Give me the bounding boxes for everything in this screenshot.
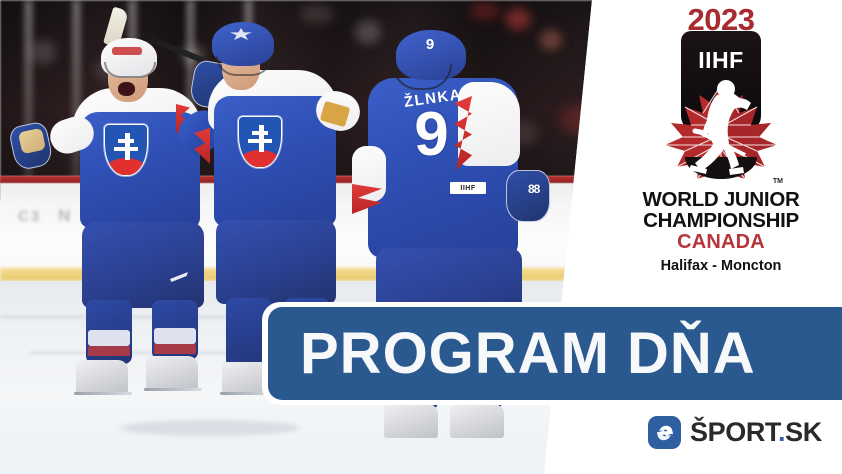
ice-scuff <box>120 420 300 436</box>
skate-blade <box>74 392 132 395</box>
hockey-player-silhouette-icon <box>681 77 767 181</box>
iihf-wordmark: IIHF <box>681 47 761 74</box>
jersey-number: 9 <box>392 104 472 166</box>
logo-title-line2: CHAMPIONSHIP <box>643 210 799 231</box>
skate <box>450 404 504 438</box>
slovakia-crest <box>238 116 282 168</box>
skate <box>384 404 438 438</box>
logo-title-line1: WORLD JUNIOR <box>643 189 800 210</box>
crowd-blob <box>505 8 531 30</box>
brand-tld: SK <box>785 417 822 447</box>
swirl-icon <box>653 421 677 445</box>
glass-reflection <box>24 0 33 200</box>
crowd-blob <box>300 4 334 24</box>
banner-title: PROGRAM DŇA <box>300 320 756 387</box>
promo-graphic: C3 N IHU I I <box>0 0 842 474</box>
sport-sk-mark-icon <box>648 416 681 449</box>
crest-hills <box>105 158 147 175</box>
crest-cross <box>118 139 135 143</box>
crest-cross <box>114 147 138 151</box>
skate <box>76 360 128 394</box>
program-banner: PROGRAM DŇA <box>268 307 842 400</box>
crest-hills <box>239 150 281 167</box>
skate-blade <box>144 388 202 391</box>
crowd-blob <box>30 40 56 64</box>
crowd-blob <box>355 20 381 44</box>
iihf-wjc-logo: 2023 IIHF <box>600 4 842 300</box>
logo-country: CANADA <box>677 231 765 253</box>
player-pants <box>82 222 204 308</box>
sock-stripe <box>88 330 130 346</box>
board-advert-text: C3 <box>18 208 41 225</box>
brand-name: ŠPORT <box>690 417 778 447</box>
sock-stripe <box>154 328 196 344</box>
crowd-blob <box>470 2 500 20</box>
logo-cities: Halifax - Moncton <box>661 256 782 276</box>
player-pants <box>216 220 336 304</box>
sock-stripe <box>88 346 130 356</box>
player-mouth <box>118 82 135 96</box>
crowd-blob <box>540 30 562 50</box>
hockey-glove <box>506 170 550 222</box>
iihf-crest: IIHF <box>657 31 785 189</box>
glove-brand: 88 <box>528 182 550 196</box>
iihf-patch: IIHF <box>450 182 486 194</box>
skate <box>146 356 198 390</box>
crest-cross <box>248 139 272 143</box>
sport-sk-wordmark: ŠPORT.SK <box>690 417 822 448</box>
crest-cross <box>252 131 269 135</box>
helmet-cage <box>104 62 156 78</box>
slovakia-crest <box>104 124 148 176</box>
sock-stripe <box>154 344 196 354</box>
trademark-symbol: TM <box>773 178 783 185</box>
sport-sk-logo: ŠPORT.SK <box>648 416 822 449</box>
helmet-sticker <box>112 47 142 55</box>
helmet-number: 9 <box>418 36 442 54</box>
board-advert-text: N <box>58 206 72 226</box>
